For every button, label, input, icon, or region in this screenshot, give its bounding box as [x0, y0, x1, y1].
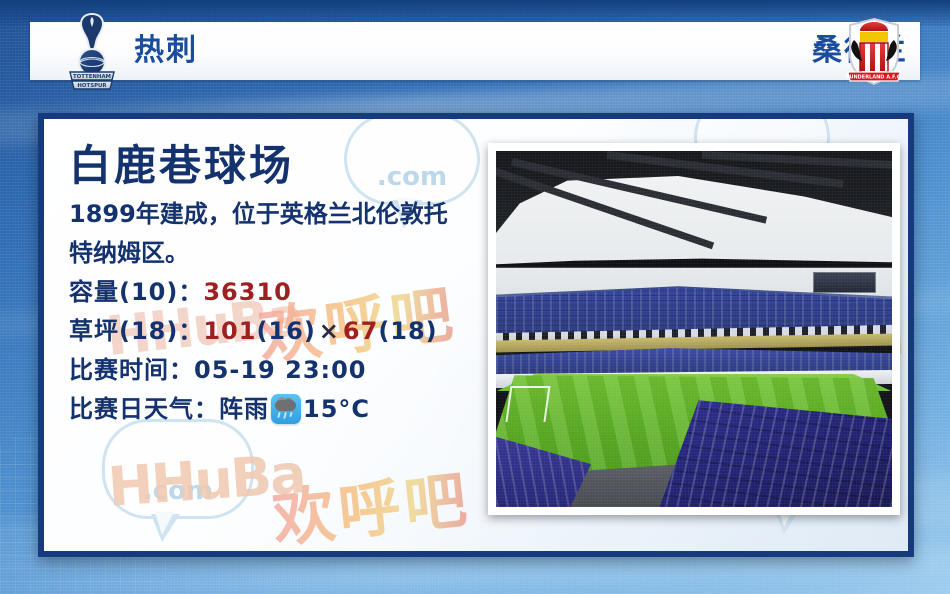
sunderland-afc-crest: SUNDERLAND A.F.C. — [838, 16, 910, 88]
stadium-title: 白鹿巷球场 — [69, 143, 489, 189]
rain-shower-icon — [271, 394, 301, 424]
pitch-width-value: 67 — [343, 317, 378, 345]
stadium-photo-frame — [488, 143, 900, 515]
pitch-label: 草坪(18)： — [69, 317, 203, 345]
match-weather-row: 比赛日天气：阵雨 15°C — [69, 390, 489, 429]
capacity-label: 容量(10)： — [69, 278, 203, 306]
capacity-value: 36310 — [203, 278, 292, 306]
watermark-brand-cn: 欢呼吧 — [268, 449, 474, 557]
home-team-name: 热刺 — [134, 36, 198, 66]
pitch-multiply-sign: × — [316, 317, 343, 345]
match-time-label: 比赛时间： — [69, 356, 194, 384]
match-time-row: 比赛时间：05-19 23:00 — [69, 351, 489, 390]
watermark-bubble: .com — [102, 419, 254, 519]
white-hart-lane-stadium-photo — [496, 151, 892, 507]
match-weather-label: 比赛日天气： — [69, 395, 219, 423]
match-time-value: 05-19 23:00 — [194, 356, 367, 384]
watermark-dotcom-text: .com — [143, 476, 213, 506]
watermark-brand-latin: HHuBa — [106, 442, 306, 519]
match-weather-value: 阵雨 — [219, 395, 269, 423]
pitch-length-rank: (16) — [256, 317, 315, 345]
pitch-width-rank: (18) — [378, 317, 437, 345]
match-temperature: 15°C — [303, 395, 370, 423]
watermark-bubble-tail — [151, 514, 180, 542]
pitch-row: 草坪(18)：101(16)×67(18) — [69, 312, 489, 351]
home-crest-text-bottom: HOTSPUR — [77, 83, 107, 89]
home-crest-text-top: TOTTENHAM — [73, 74, 111, 80]
tottenham-hotspur-crest: TOTTENHAM HOTSPUR — [66, 12, 118, 92]
match-header-bar: 热刺 桑德兰 — [30, 22, 920, 80]
stadium-info-column: 白鹿巷球场 1899年建成，位于英格兰北伦敦托特纳姆区。 容量(10)：3631… — [69, 143, 489, 429]
away-crest-text: SUNDERLAND A.F.C. — [846, 75, 903, 81]
stadium-description: 1899年建成，位于英格兰北伦敦托特纳姆区。 — [69, 195, 469, 273]
pitch-length-value: 101 — [203, 317, 256, 345]
capacity-row: 容量(10)：36310 — [69, 273, 489, 312]
stadium-info-panel: .com .com .com .com HHuBa HHuBa HHuBa 欢呼… — [38, 113, 914, 557]
